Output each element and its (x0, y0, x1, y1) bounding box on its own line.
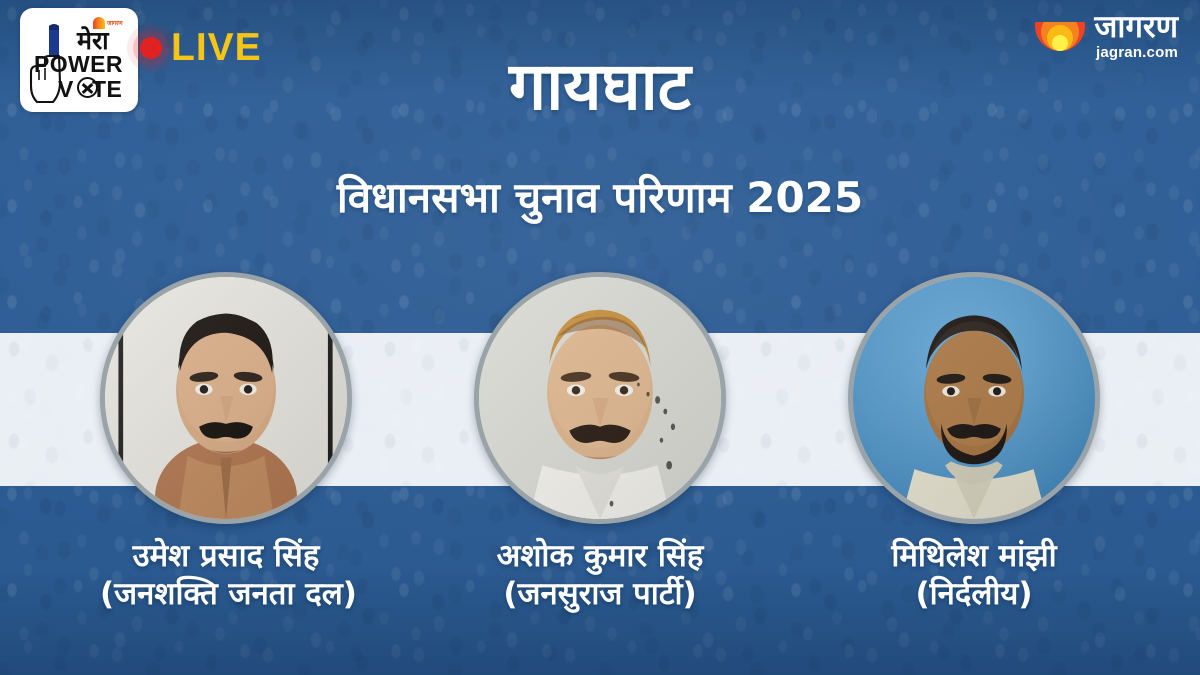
candidate-portrait-2 (479, 277, 721, 519)
candidate-list: उमेश प्रसाद सिंह (जनशक्ति जनता दल) (0, 272, 1200, 614)
candidate-photo (848, 272, 1100, 524)
mpv-mera-text: मेरा (77, 28, 109, 53)
candidate-name: उमेश प्रसाद सिंह (100, 538, 352, 576)
candidate-photo (100, 272, 352, 524)
sunrise-icon (1035, 22, 1085, 51)
candidate-name: अशोक कुमार सिंह (474, 538, 726, 576)
candidate-portrait-3 (853, 277, 1095, 519)
election-result-banner: जागरण मेरा POWER VOTE LIVE जागरण jagran.… (0, 0, 1200, 675)
candidate-party: (जनसुराज पार्टी) (474, 576, 726, 614)
candidate-photo (474, 272, 726, 524)
candidate-portrait-1 (105, 277, 347, 519)
jagran-name-hindi: जागरण (1094, 12, 1178, 44)
candidate-name: मिथिलेश मांझी (848, 538, 1100, 576)
candidate-party: (जनशक्ति जनता दल) (100, 576, 352, 614)
mpv-jagran-text: जागरण (107, 19, 122, 27)
page-title: गायघाट (0, 52, 1200, 121)
candidate-card[interactable]: मिथिलेश मांझी (निर्दलीय) (848, 272, 1100, 614)
candidate-party: (निर्दलीय) (848, 576, 1100, 614)
candidate-card[interactable]: उमेश प्रसाद सिंह (जनशक्ति जनता दल) (100, 272, 352, 614)
page-subtitle: विधानसभा चुनाव परिणाम 2025 (0, 175, 1200, 221)
candidate-card[interactable]: अशोक कुमार सिंह (जनसुराज पार्टी) (474, 272, 726, 614)
